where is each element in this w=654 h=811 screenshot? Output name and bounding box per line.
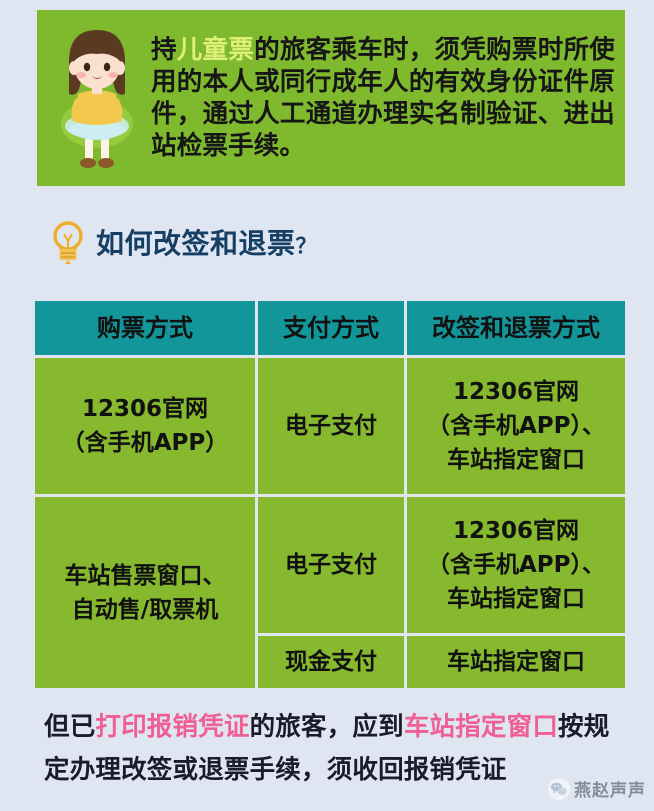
- watermark: 燕赵声声: [548, 776, 646, 801]
- cell-line: 车站指定窗口: [409, 582, 623, 616]
- cell-payment-method: 电子支付: [258, 358, 404, 494]
- cell-change-refund-method: 车站指定窗口: [407, 636, 625, 688]
- cell-line: （含手机APP）: [37, 426, 253, 460]
- notice-text: 持儿童票的旅客乘车时，须凭购票时所使用的本人或同行成年人的有效身份证件原件，通过…: [149, 34, 615, 162]
- notice-highlight: 儿童票: [177, 35, 254, 65]
- footer-seg1: 但已: [44, 712, 95, 742]
- cell-change-refund-method: 12306官网 （含手机APP）、 车站指定窗口: [407, 497, 625, 633]
- table-header-row: 购票方式 支付方式 改签和退票方式: [35, 301, 625, 355]
- column-header-change-refund-method: 改签和退票方式: [407, 301, 625, 355]
- cell-purchase-method: 车站售票窗口、 自动售/取票机: [35, 497, 255, 688]
- footer-note: 但已打印报销凭证的旅客，应到车站指定窗口按规定办理改签或退票手续，须收回报销凭证: [44, 706, 630, 792]
- cell-line: 车站指定窗口: [409, 443, 623, 477]
- wechat-logo-icon: [548, 778, 570, 800]
- footer-highlight-window: 车站指定窗口: [404, 712, 558, 742]
- watermark-text: 燕赵声声: [574, 776, 646, 801]
- footer-highlight-receipt: 打印报销凭证: [95, 712, 249, 742]
- page-title: 如何改签和退票？: [96, 222, 317, 262]
- cell-line: 车站售票窗口、: [37, 559, 253, 593]
- column-header-payment-method: 支付方式: [258, 301, 404, 355]
- notice-box: 持儿童票的旅客乘车时，须凭购票时所使用的本人或同行成年人的有效身份证件原件，通过…: [37, 10, 625, 186]
- notice-text-lead: 持: [151, 35, 177, 65]
- cell-line: 12306官网: [409, 375, 623, 409]
- cell-purchase-method: 12306官网 （含手机APP）: [35, 358, 255, 494]
- table-row: 车站售票窗口、 自动售/取票机 电子支付 12306官网 （含手机APP）、 车…: [35, 497, 625, 633]
- cell-payment-method: 现金支付: [258, 636, 404, 688]
- cell-change-refund-method: 12306官网 （含手机APP）、 车站指定窗口: [407, 358, 625, 494]
- ticket-change-refund-table: 购票方式 支付方式 改签和退票方式 12306官网 （含手机APP） 电子支付 …: [32, 298, 622, 691]
- column-header-purchase-method: 购票方式: [35, 301, 255, 355]
- lightbulb-icon: [48, 216, 88, 268]
- section-title-question: ？: [296, 234, 318, 258]
- cell-line: （含手机APP）、: [409, 409, 623, 443]
- girl-illustration-icon: [45, 18, 149, 178]
- cell-line: 12306官网: [37, 392, 253, 426]
- cell-line: 12306官网: [409, 514, 623, 548]
- footer-seg3: 的旅客，应到: [250, 712, 404, 742]
- cell-payment-method: 电子支付: [258, 497, 404, 633]
- cell-line: 自动售/取票机: [37, 593, 253, 627]
- section-heading: 如何改签和退票？: [48, 216, 317, 268]
- table-row: 12306官网 （含手机APP） 电子支付 12306官网 （含手机APP）、 …: [35, 358, 625, 494]
- cell-line: （含手机APP）、: [409, 548, 623, 582]
- section-title-text: 如何改签和退票: [96, 227, 296, 260]
